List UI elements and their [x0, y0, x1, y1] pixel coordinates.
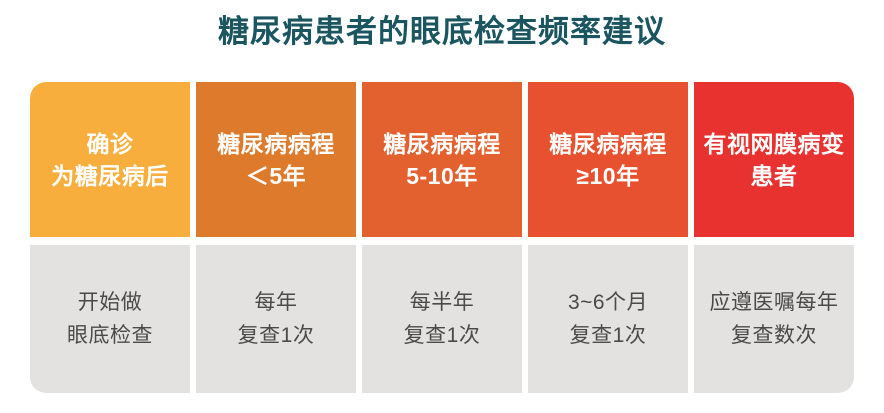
header-line-1: 糖尿病病程 [383, 128, 501, 160]
header-line-1: 糖尿病病程 [217, 128, 335, 160]
body-line-2: 复查1次 [404, 319, 481, 352]
header-body-divider [30, 237, 854, 245]
table-header-row: 确诊 为糖尿病后 糖尿病病程 ＜5年 糖尿病病程 5-10年 糖尿病病程 ≥10… [30, 82, 854, 237]
body-cell-diagnosed: 开始做 眼底检查 [30, 245, 190, 393]
body-line-2: 眼底检查 [67, 319, 153, 352]
body-cell-retinopathy: 应遵医嘱每年 复查数次 [694, 245, 854, 393]
header-line-2: 5-10年 [406, 160, 478, 192]
header-line-1: 有视网膜病变 [704, 128, 845, 160]
body-line-1: 3~6个月 [568, 286, 648, 319]
header-cell-duration-under-5: 糖尿病病程 ＜5年 [196, 82, 356, 237]
body-cell-duration-under-5: 每年 复查1次 [196, 245, 356, 393]
header-line-2: ≥10年 [576, 160, 639, 192]
header-line-1: 糖尿病病程 [549, 128, 667, 160]
infographic-page: 糖尿病患者的眼底检查频率建议 确诊 为糖尿病后 糖尿病病程 ＜5年 糖尿病病程 … [0, 0, 884, 413]
body-line-1: 每年 [255, 286, 298, 319]
header-line-1: 确诊 [87, 128, 134, 160]
body-line-1: 开始做 [78, 286, 143, 319]
body-line-1: 每半年 [410, 286, 475, 319]
body-line-2: 复查数次 [731, 319, 817, 352]
frequency-table: 确诊 为糖尿病后 糖尿病病程 ＜5年 糖尿病病程 5-10年 糖尿病病程 ≥10… [30, 82, 854, 393]
header-cell-diagnosed: 确诊 为糖尿病后 [30, 82, 190, 237]
body-line-2: 复查1次 [238, 319, 315, 352]
body-line-2: 复查1次 [570, 319, 647, 352]
header-line-2: 患者 [751, 160, 798, 192]
table-body-row: 开始做 眼底检查 每年 复查1次 每半年 复查1次 3~6个月 复查1次 应遵医… [30, 245, 854, 393]
header-line-2: 为糖尿病后 [51, 160, 169, 192]
body-cell-duration-5-10: 每半年 复查1次 [362, 245, 522, 393]
header-line-2: ＜5年 [246, 160, 306, 192]
page-title: 糖尿病患者的眼底检查频率建议 [0, 12, 884, 52]
body-cell-duration-over-10: 3~6个月 复查1次 [528, 245, 688, 393]
header-cell-duration-over-10: 糖尿病病程 ≥10年 [528, 82, 688, 237]
body-line-1: 应遵医嘱每年 [710, 286, 839, 319]
header-cell-duration-5-10: 糖尿病病程 5-10年 [362, 82, 522, 237]
header-cell-retinopathy: 有视网膜病变 患者 [694, 82, 854, 237]
